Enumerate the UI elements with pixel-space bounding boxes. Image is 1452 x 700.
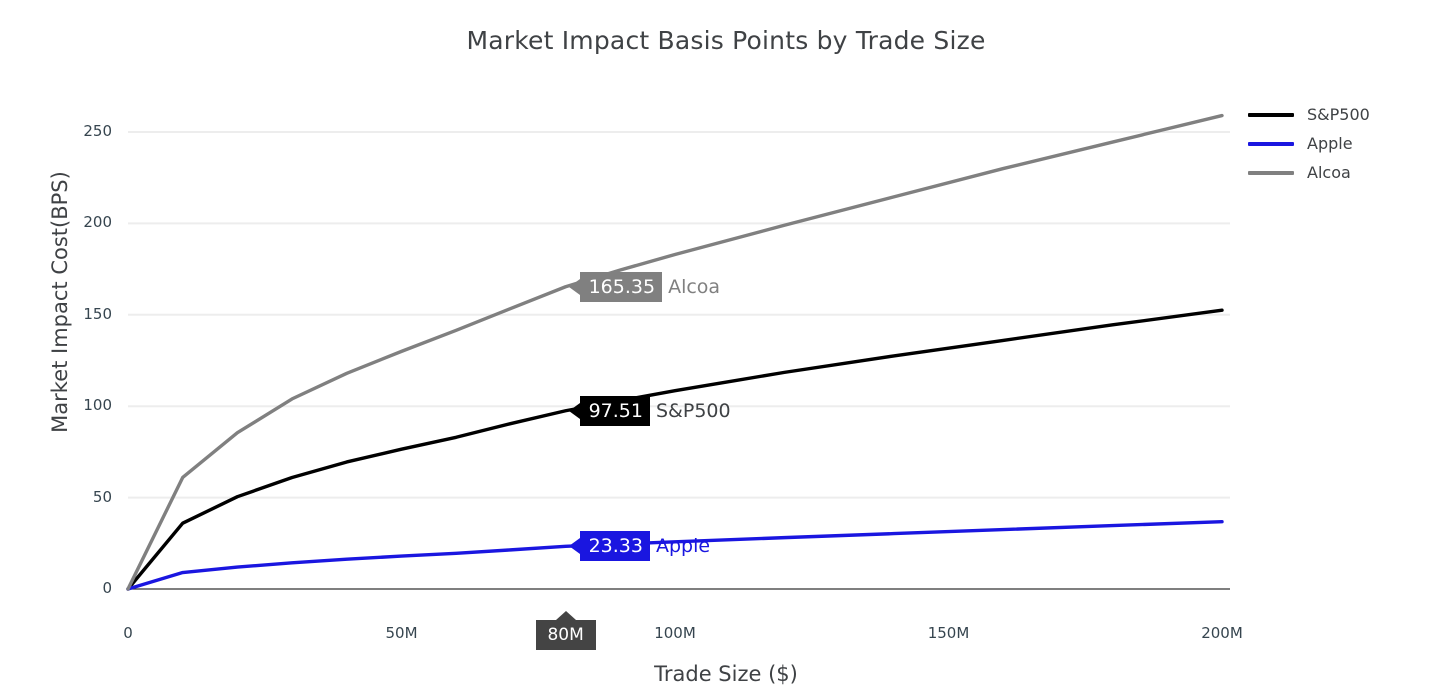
x-cursor-label[interactable]: 80M xyxy=(536,620,596,650)
annotation-value-box: 23.33 xyxy=(580,531,650,561)
x-tick-label: 0 xyxy=(83,624,173,642)
legend-item-alcoa[interactable]: Alcoa xyxy=(1248,158,1370,187)
x-tick-label: 50M xyxy=(357,624,447,642)
gridlines xyxy=(128,132,1230,498)
annotation-series-name: S&P500 xyxy=(656,400,731,422)
annotation-series-name: Alcoa xyxy=(668,276,720,298)
legend-swatch-icon xyxy=(1248,171,1294,175)
series-lines xyxy=(128,116,1222,589)
x-axis-title: Trade Size ($) xyxy=(0,662,1452,686)
annotation-value-box: 165.35 xyxy=(580,272,662,302)
annotation-value: 23.33 xyxy=(589,535,643,557)
annotation-s-p500: 97.51S&P500 xyxy=(580,396,731,426)
x-tick-label: 150M xyxy=(904,624,994,642)
annotation-value-box: 97.51 xyxy=(580,396,650,426)
chart-container: Market Impact Basis Points by Trade Size… xyxy=(0,0,1452,700)
chart-legend[interactable]: S&P500AppleAlcoa xyxy=(1248,100,1370,187)
annotation-value: 97.51 xyxy=(589,400,643,422)
legend-swatch-icon xyxy=(1248,142,1294,146)
annotation-alcoa: 165.35Alcoa xyxy=(580,272,720,302)
y-tick-label: 0 xyxy=(52,579,112,597)
x-tick-label: 200M xyxy=(1177,624,1267,642)
legend-label: Apple xyxy=(1307,134,1353,153)
annotation-value: 165.35 xyxy=(589,276,655,298)
plot-area[interactable] xyxy=(0,0,1452,700)
legend-label: Alcoa xyxy=(1307,163,1351,182)
annotation-series-name: Apple xyxy=(656,535,710,557)
y-axis-title: Market Impact Cost(BPS) xyxy=(48,62,72,542)
legend-item-s-p500[interactable]: S&P500 xyxy=(1248,100,1370,129)
legend-label: S&P500 xyxy=(1307,105,1370,124)
x-tick-label: 100M xyxy=(630,624,720,642)
series-line-alcoa xyxy=(128,116,1222,589)
legend-swatch-icon xyxy=(1248,113,1294,117)
legend-item-apple[interactable]: Apple xyxy=(1248,129,1370,158)
annotation-apple: 23.33Apple xyxy=(580,531,711,561)
